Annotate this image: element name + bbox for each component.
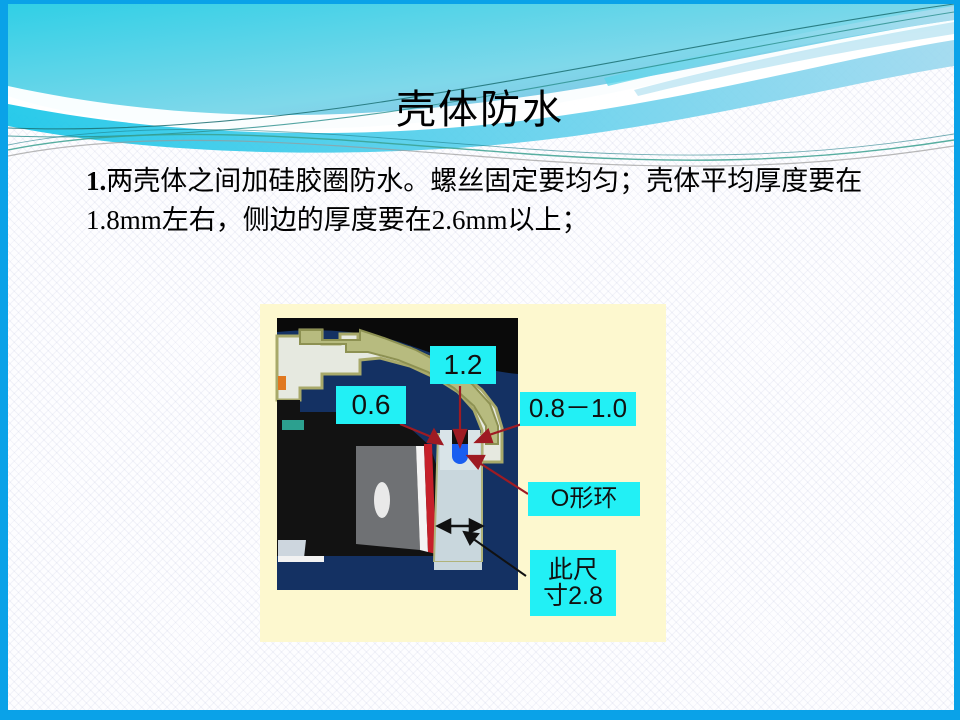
page-title: 壳体防水 [0,88,960,132]
callout-wall-dimension: 此尺 寸2.8 [530,550,616,616]
body-paragraph-text: 两壳体之间加硅胶圈防水。螺丝固定要均匀；壳体平均厚度要在1.8mm左右，侧边的厚… [86,166,862,235]
slide-border-top [0,0,960,4]
callout-o-ring: O形环 [528,482,640,516]
callout-groove-width: 0.8－1.0 [520,392,636,426]
slide-border-bottom [0,710,960,720]
header-wave-decoration [8,0,954,170]
callout-wall-dimension-line2: 寸2.8 [543,583,603,609]
callout-thickness-top: 1.2 [430,346,496,384]
slide-border-left [0,0,8,720]
slide-border-right [954,0,960,720]
figure-waterproof-cross-section: 1.2 0.6 0.8－1.0 O形环 此尺 寸2.8 [260,304,666,642]
callout-thickness-rib: 0.6 [336,386,406,424]
body-paragraph: 1.两壳体之间加硅胶圈防水。螺丝固定要均匀；壳体平均厚度要在1.8mm左右，侧边… [86,162,886,240]
callout-wall-dimension-line1: 此尺 [548,557,598,583]
slide: 壳体防水 1.两壳体之间加硅胶圈防水。螺丝固定要均匀；壳体平均厚度要在1.8mm… [0,0,960,720]
list-number: 1. [86,166,106,196]
